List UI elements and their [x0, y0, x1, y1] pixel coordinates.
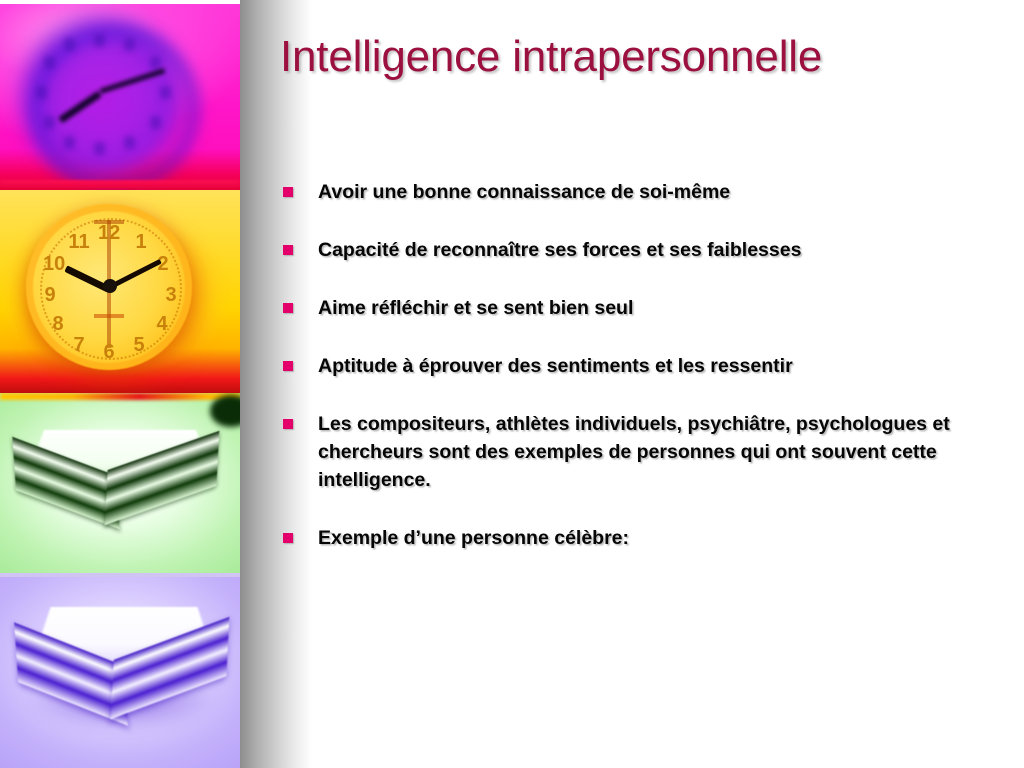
clock-numeral-11: 11	[68, 232, 90, 252]
square-bullet-icon	[283, 245, 293, 255]
square-bullet-icon	[283, 187, 293, 197]
list-item-label: Avoir une bonne connaissance de soi-même	[318, 178, 999, 206]
square-bullet-icon	[283, 419, 293, 429]
clock-numeral-3: 3	[160, 285, 182, 305]
clock-numeral-6: 6	[98, 342, 120, 362]
clock-tick	[124, 38, 135, 51]
panel-red-band	[0, 180, 240, 190]
list-item-label: Les compositeurs, athlètes individuels, …	[318, 410, 983, 494]
list-item-label: Exemple d’une personne célèbre:	[318, 524, 999, 552]
clock-center-spindle	[103, 279, 117, 293]
square-bullet-icon	[283, 361, 293, 371]
book-purple-image	[0, 573, 240, 768]
clock-tick	[124, 136, 135, 149]
clock-numeral-9: 9	[39, 285, 61, 305]
clock-numeral-8: 8	[47, 314, 69, 334]
list-item: Exemple d’une personne célèbre:	[283, 524, 999, 552]
list-item: Aime réfléchir et se sent bien seul	[283, 294, 999, 322]
clock-tick	[64, 38, 75, 51]
book-green-image	[0, 393, 240, 573]
clock-bezel	[30, 26, 200, 190]
list-item: Aptitude à éprouver des sentiments et le…	[283, 352, 999, 380]
clock-tick	[94, 142, 105, 155]
list-item: Avoir une bonne connaissance de soi-même	[283, 178, 999, 206]
clock-numeral-10: 10	[43, 254, 65, 274]
square-bullet-icon	[283, 533, 293, 543]
presentation-slide: 12 1 2 3 4 5 6 7 8 9 10 11	[0, 0, 1024, 768]
list-item-label: Capacité de reconnaître ses forces et se…	[318, 236, 999, 264]
clock-yellow-image: 12 1 2 3 4 5 6 7 8 9 10 11	[0, 190, 240, 393]
square-bullet-icon	[283, 303, 293, 313]
clock-magenta-image	[0, 4, 240, 190]
clock-numeral-5: 5	[128, 335, 150, 355]
clock-numeral-4: 4	[151, 314, 173, 334]
clock-tick	[44, 56, 55, 69]
list-item-label: Aime réfléchir et se sent bien seul	[318, 294, 999, 322]
decorative-image-strip: 12 1 2 3 4 5 6 7 8 9 10 11	[0, 0, 240, 768]
clock-tick	[150, 56, 161, 69]
clock-tick	[94, 34, 105, 47]
clock-numeral-1: 1	[130, 232, 152, 252]
clock-tick	[36, 86, 47, 99]
clock-tick	[44, 116, 55, 129]
panel-top-band	[0, 393, 240, 400]
clock-six-marker	[94, 314, 124, 318]
clock-numeral-7: 7	[68, 335, 90, 355]
list-item: Capacité de reconnaître ses forces et se…	[283, 236, 999, 264]
panel-top-band	[0, 573, 240, 577]
bullet-list: Avoir une bonne connaissance de soi-même…	[283, 178, 999, 582]
list-item-label: Aptitude à éprouver des sentiments et le…	[318, 352, 999, 380]
clock-tick	[160, 86, 171, 99]
clock-tick	[64, 136, 75, 149]
clock-numeral-12: 12	[98, 223, 120, 243]
page-title: Intelligence intrapersonnelle	[280, 28, 980, 86]
clock-tick	[150, 116, 161, 129]
list-item: Les compositeurs, athlètes individuels, …	[283, 410, 999, 494]
